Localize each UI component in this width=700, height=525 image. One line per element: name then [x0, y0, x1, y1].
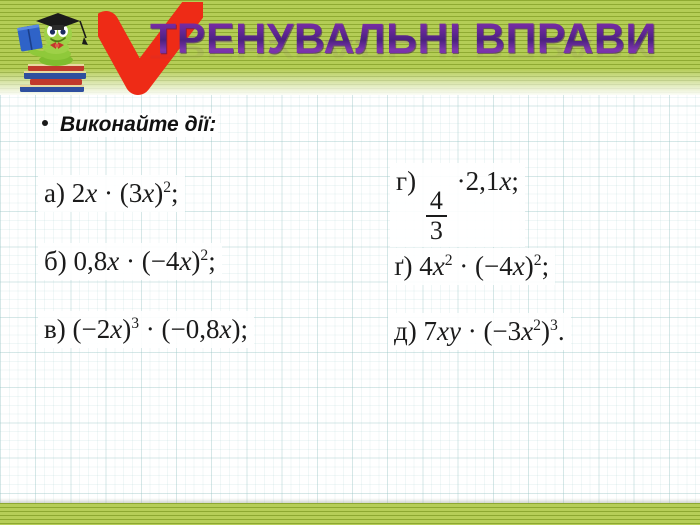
exercise-expression-a: 2x · (3x)2;	[72, 178, 179, 208]
exercise-expression-b: 0,8x · (−4x)2;	[73, 246, 215, 276]
exercise-label-b: б)	[44, 246, 67, 276]
fraction-four-thirds: 4 3	[426, 188, 447, 244]
exercise-item-b: б) 0,8x · (−4x)2;	[38, 243, 222, 280]
exercise-label-g: г)	[396, 166, 416, 196]
exercise-label-v: в)	[44, 314, 66, 344]
bullet-dot-icon	[42, 120, 48, 126]
instruction-text: Виконайте дії:	[58, 113, 218, 137]
fraction-numerator: 4	[426, 188, 447, 215]
exercise-label-gh: ґ)	[394, 251, 412, 281]
slide-title: ТРЕНУВАЛЬНІ ВПРАВИ ТРЕНУВАЛЬНІ ВПРАВИ	[150, 14, 690, 94]
exercise-label-d: д)	[394, 316, 417, 346]
exercise-expression-g: ·2,1x;	[457, 166, 519, 196]
instruction-line: Виконайте дії:	[42, 113, 218, 137]
exercise-item-a: а) 2x · (3x)2;	[38, 175, 185, 212]
exercise-item-v: в) (−2x)3 · (−0,8x);	[38, 311, 254, 348]
fraction-denominator: 3	[426, 217, 447, 244]
slide-canvas: ТРЕНУВАЛЬНІ ВПРАВИ ТРЕНУВАЛЬНІ ВПРАВИ Ви…	[0, 0, 700, 525]
exercise-expression-gh: 4x2 · (−4x)2;	[419, 251, 549, 281]
exercise-item-d: д) 7xy · (−3x2)3.	[388, 313, 571, 350]
exercise-expression-v: (−2x)3 · (−0,8x);	[73, 314, 248, 344]
exercise-item-g: г) 4 3 ·2,1x;	[390, 163, 525, 247]
exercise-item-gh: ґ) 4x2 · (−4x)2;	[388, 248, 555, 285]
exercise-label-a: а)	[44, 178, 65, 208]
bookworm-graduate-icon	[6, 4, 106, 94]
slide-title-text: ТРЕНУВАЛЬНІ ВПРАВИ	[150, 14, 657, 64]
bottom-green-strip	[0, 503, 700, 525]
exercise-expression-d: 7xy · (−3x2)3.	[423, 316, 564, 346]
